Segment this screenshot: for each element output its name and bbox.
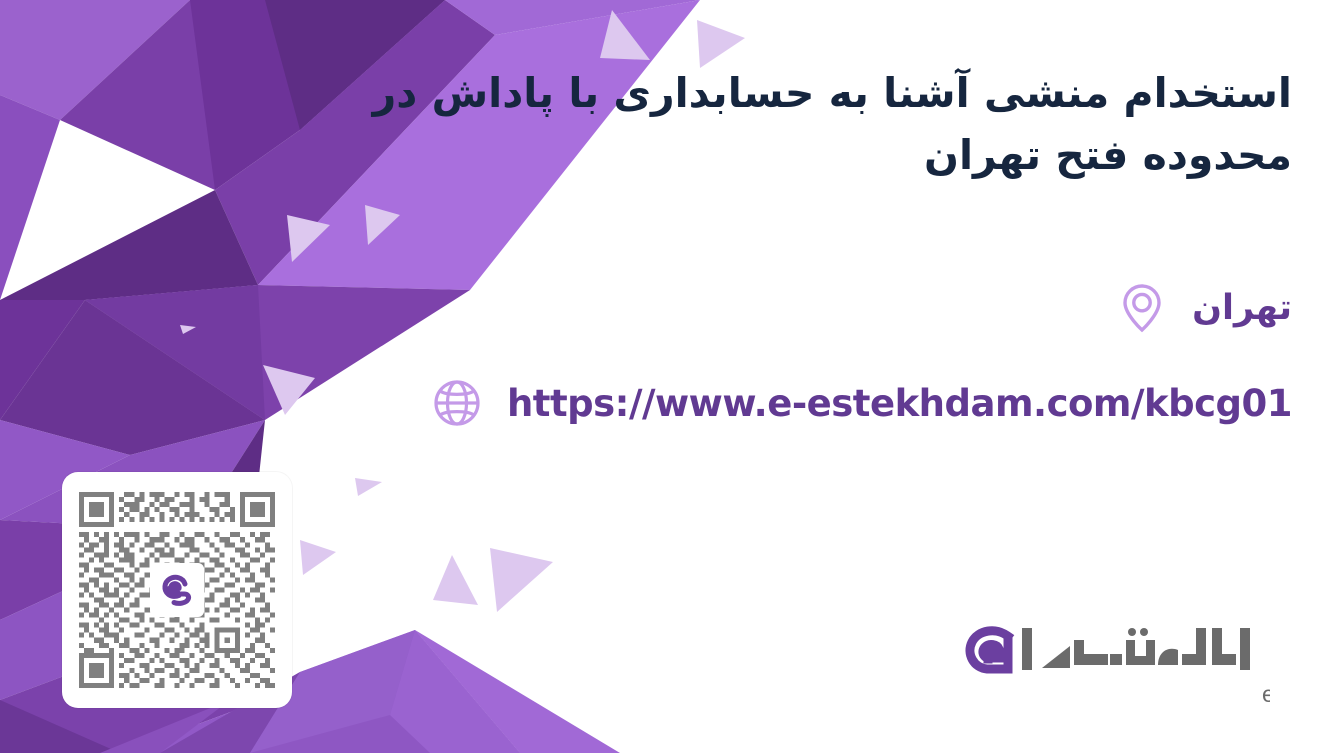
brand-e-icon (970, 631, 1008, 669)
map-pin-icon (1114, 280, 1170, 336)
qr-code[interactable] (74, 484, 280, 696)
e-letter-logo-icon (150, 563, 204, 617)
card-content: استخدام منشی آشنا به حسابداری با پاداش د… (0, 0, 1340, 753)
brand-wordmark-en-text: e-estekhdam (1262, 681, 1270, 707)
qr-code-card[interactable] (62, 472, 292, 708)
page-title: استخدام منشی آشنا به حسابداری با پاداش د… (352, 62, 1292, 187)
brand-logo: e-estekhdam (950, 610, 1270, 708)
website-row[interactable]: https://www.e-estekhdam.com/kbcg01 (429, 375, 1292, 431)
brand-wordmark-fa (1022, 628, 1250, 670)
globe-icon (429, 375, 485, 431)
location-value: تهران (1192, 288, 1292, 328)
job-share-card: استخدام منشی آشنا به حسابداری با پاداش د… (0, 0, 1340, 753)
website-url[interactable]: https://www.e-estekhdam.com/kbcg01 (507, 382, 1292, 425)
location-row: تهران (1114, 280, 1292, 336)
